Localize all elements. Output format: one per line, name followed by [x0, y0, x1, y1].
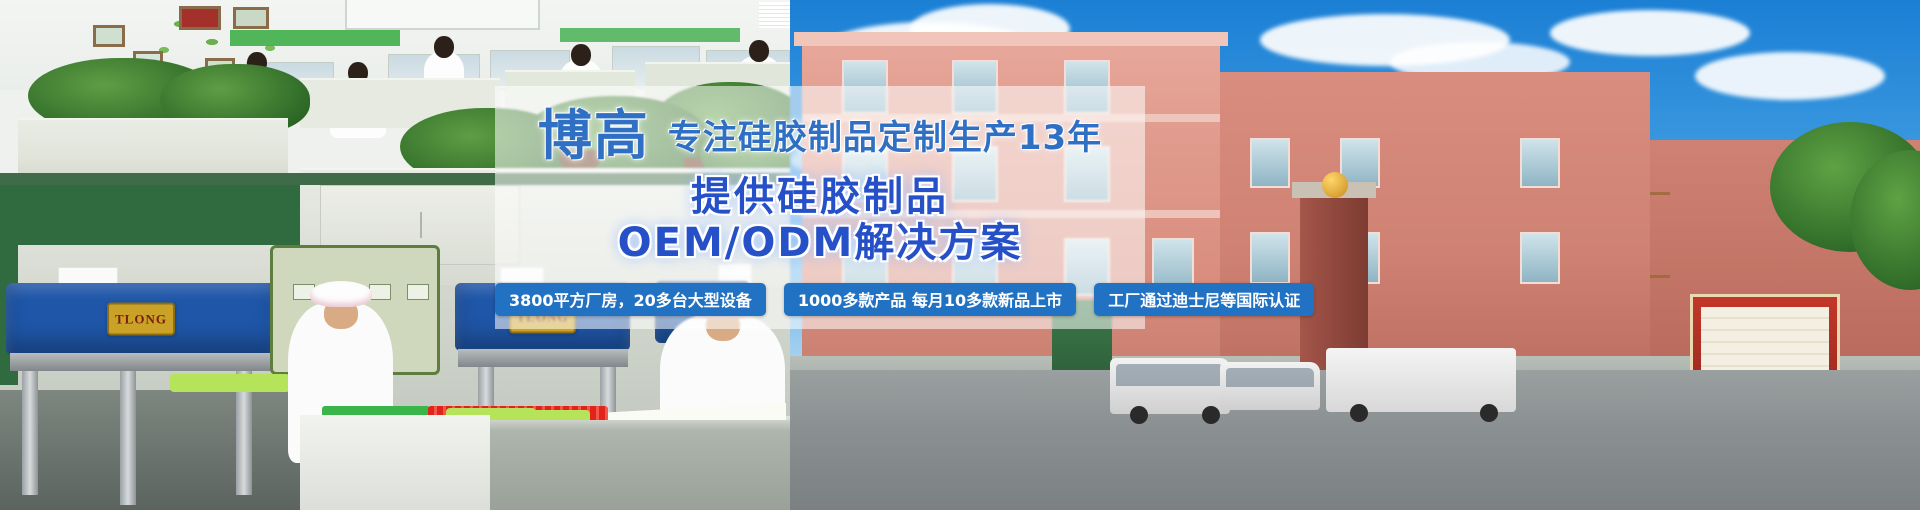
- wall-picture-frame: [93, 25, 125, 47]
- wall-picture-frame: [233, 7, 269, 29]
- whiteboard-chart: [759, 2, 790, 28]
- cloud: [1695, 52, 1885, 100]
- promo-banner: TLONG TLONG: [0, 0, 1920, 510]
- wall-picture-frame: [179, 6, 221, 30]
- building-window: [1520, 232, 1560, 284]
- building-window: [1250, 138, 1290, 188]
- building-window: [1520, 138, 1560, 188]
- feature-badge-certification[interactable]: 工厂通过迪士尼等国际认证: [1094, 283, 1314, 316]
- feature-badge-product-count[interactable]: 1000多款产品 每月10多款新品上市: [784, 283, 1076, 316]
- feature-badge-row: 3800平方厂房，20多台大型设备 1000多款产品 每月10多款新品上市 工厂…: [495, 279, 1155, 319]
- building-cornice: [794, 32, 1228, 46]
- vehicle-tire: [1130, 406, 1148, 424]
- hydraulic-press: TLONG: [6, 283, 276, 355]
- vehicle-tire: [1480, 404, 1498, 422]
- vehicle-tire: [1202, 406, 1220, 424]
- factory-floor-shadow: [0, 390, 320, 510]
- parked-truck: [1326, 348, 1516, 412]
- notice-board-panel: [1701, 307, 1829, 377]
- press-platen: [458, 349, 628, 367]
- office-green-panel: [560, 28, 740, 42]
- white-cabinet: [300, 415, 490, 510]
- feature-badge-factory-size[interactable]: 3800平方厂房，20多台大型设备: [495, 283, 766, 316]
- control-gauge: [369, 284, 391, 300]
- parked-van: [1220, 362, 1320, 410]
- cloud: [1550, 10, 1750, 56]
- building-side-block: [1220, 72, 1650, 372]
- vehicle-tire: [1350, 404, 1368, 422]
- office-green-panel: [230, 30, 400, 46]
- office-whiteboard: [345, 0, 540, 30]
- press-platen: [10, 353, 272, 371]
- control-gauge: [407, 284, 429, 300]
- factory-green-panel: [0, 185, 300, 245]
- silicone-part: [170, 374, 290, 392]
- building-window: [1250, 232, 1290, 284]
- gate-pillar-finial: [1322, 172, 1348, 198]
- machine-brand-label: TLONG: [107, 303, 175, 336]
